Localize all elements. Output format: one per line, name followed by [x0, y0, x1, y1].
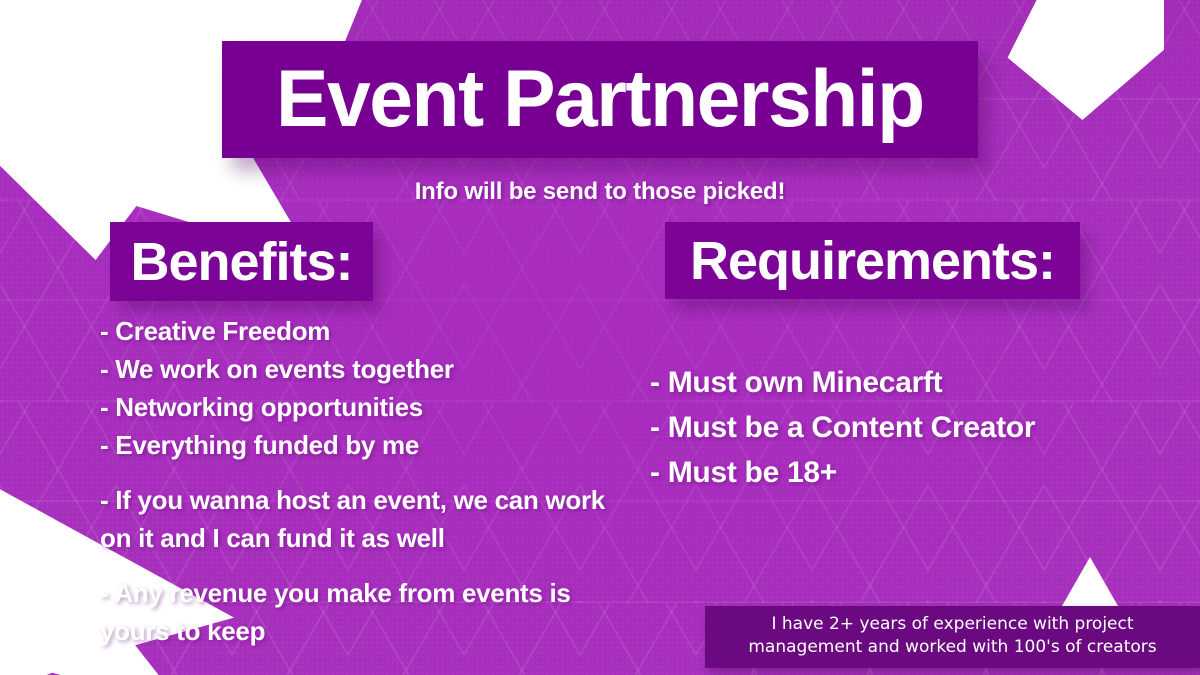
requirements-list-item: - Must be a Content Creator [650, 405, 1150, 450]
benefits-list-item: - Networking opportunities [100, 388, 610, 426]
footer-credentials-band: I have 2+ years of experience with proje… [705, 606, 1200, 668]
benefits-heading-chip: Benefits: [110, 222, 373, 301]
benefits-list-item: - Everything funded by me [100, 426, 610, 464]
title-banner: Event Partnership [222, 41, 978, 158]
page-title: Event Partnership [276, 59, 924, 140]
benefits-list-item: - If you wanna host an event, we can wor… [100, 481, 610, 557]
footer-line-1: I have 2+ years of experience with proje… [717, 613, 1188, 636]
requirements-heading-label: Requirements: [690, 234, 1055, 288]
subtitle-text: Info will be send to those picked! [0, 178, 1200, 206]
footer-line-2: management and worked with 100's of crea… [717, 636, 1188, 659]
poster-canvas: Event Partnership Info will be send to t… [0, 0, 1200, 675]
requirements-heading-chip: Requirements: [665, 222, 1080, 299]
benefits-list-item: - Creative Freedom [100, 312, 610, 350]
benefits-heading-label: Benefits: [130, 235, 352, 289]
benefits-list-item: - We work on events together [100, 350, 610, 388]
requirements-list-item: - Must own Minecarft [650, 360, 1150, 405]
benefits-list: - Creative Freedom - We work on events t… [100, 312, 610, 650]
requirements-list: - Must own Minecarft - Must be a Content… [650, 360, 1150, 495]
benefits-list-item: - Any revenue you make from events is yo… [100, 574, 610, 650]
requirements-list-item: - Must be 18+ [650, 450, 1150, 495]
